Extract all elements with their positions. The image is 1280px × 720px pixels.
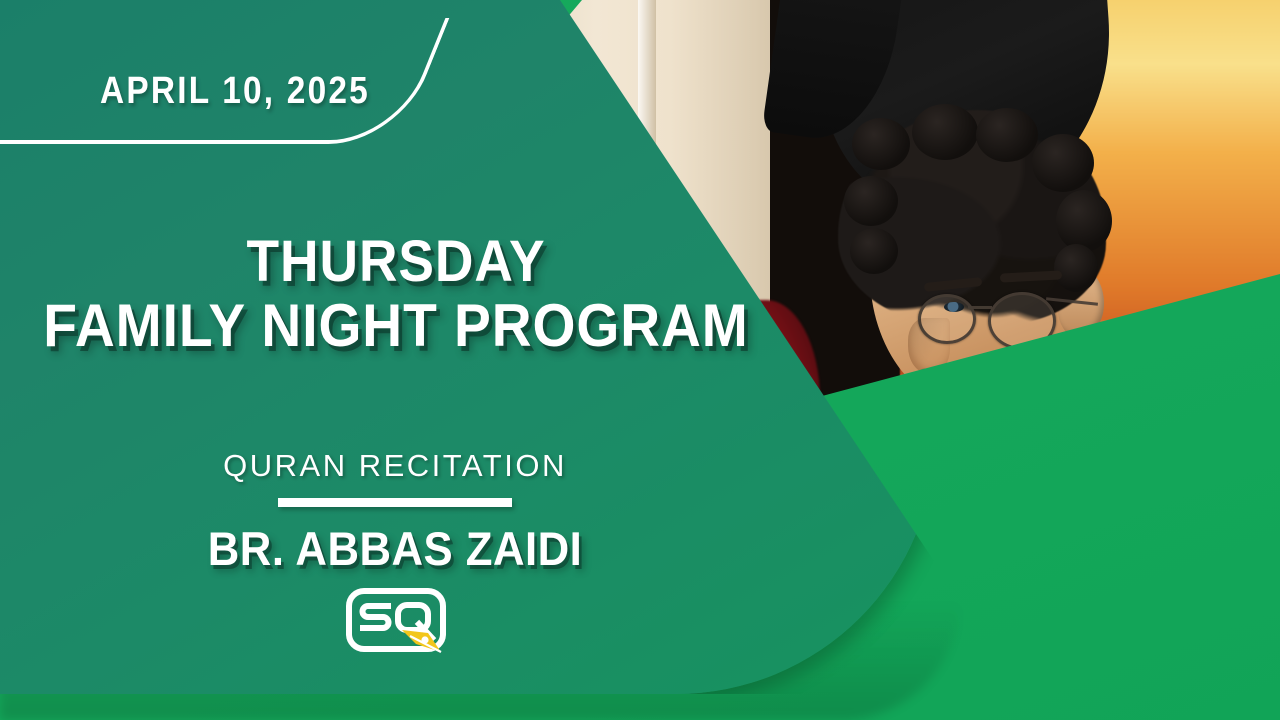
logo-letter-s [363, 606, 389, 628]
presenter-name: BR. ABBAS ZAIDI [28, 521, 763, 576]
glasses-bridge [968, 306, 992, 309]
hair-curl [912, 104, 978, 160]
hair-curl [850, 228, 898, 274]
logo-svg [344, 586, 448, 658]
pen-nib-vent [421, 636, 428, 643]
hair-curl [1032, 134, 1094, 192]
hair-curl [976, 108, 1038, 162]
date-badge-label: APRIL 10, 2025 [100, 70, 370, 113]
date-badge: APRIL 10, 2025 [0, 18, 470, 148]
segment-credit: QURAN RECITATION BR. ABBAS ZAIDI [0, 448, 790, 576]
hair-curl [1056, 190, 1112, 252]
subject-eye [944, 302, 964, 312]
credit-divider [278, 498, 512, 507]
broadcast-graphic: APRIL 10, 2025 THURSDAY FAMILY NIGHT PRO… [0, 0, 1280, 720]
hair-curl [844, 176, 898, 226]
hair-curl [1054, 244, 1098, 292]
sq-pen-nib-logo [344, 586, 448, 658]
segment-role-label: QURAN RECITATION [0, 448, 790, 484]
hair-curl [852, 118, 910, 170]
